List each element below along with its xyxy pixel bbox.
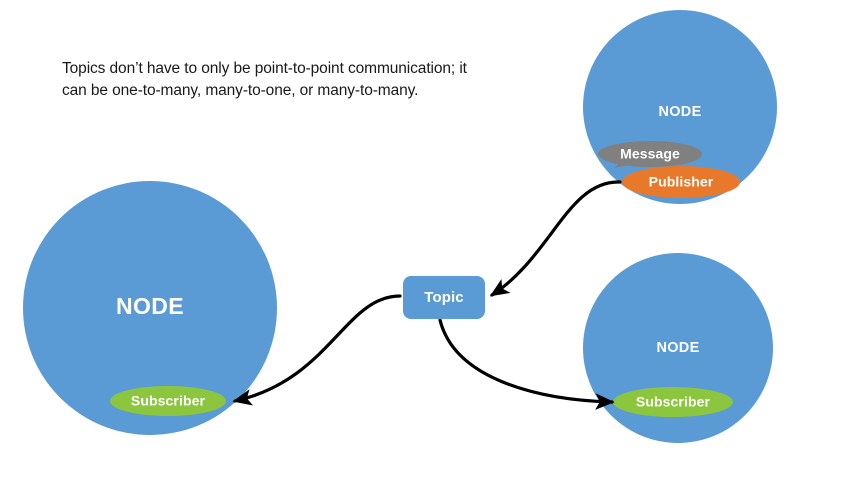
topic-label: Topic bbox=[424, 289, 463, 306]
node-top-right-label: NODE bbox=[658, 104, 701, 120]
diagram-canvas: Topics don’t have to only be point-to-po… bbox=[0, 0, 854, 480]
diagram-graphics: NODE NODE NODE Message Publisher Subscri… bbox=[0, 0, 854, 480]
topic-box[interactable]: Topic bbox=[403, 276, 485, 319]
message-label: Message bbox=[620, 146, 680, 162]
node-bottom-right-label: NODE bbox=[656, 340, 699, 356]
publisher-pill[interactable]: Publisher bbox=[622, 166, 740, 198]
subscriber-left-label: Subscriber bbox=[131, 393, 206, 409]
subscriber-left[interactable]: Subscriber bbox=[110, 386, 226, 416]
subscriber-bottom-right[interactable]: Subscriber bbox=[613, 387, 733, 417]
publisher-label: Publisher bbox=[649, 174, 714, 190]
node-left-label: NODE bbox=[116, 293, 184, 319]
subscriber-bottom-right-label: Subscriber bbox=[636, 394, 711, 410]
arrow-publisher-to-topic bbox=[492, 182, 620, 295]
